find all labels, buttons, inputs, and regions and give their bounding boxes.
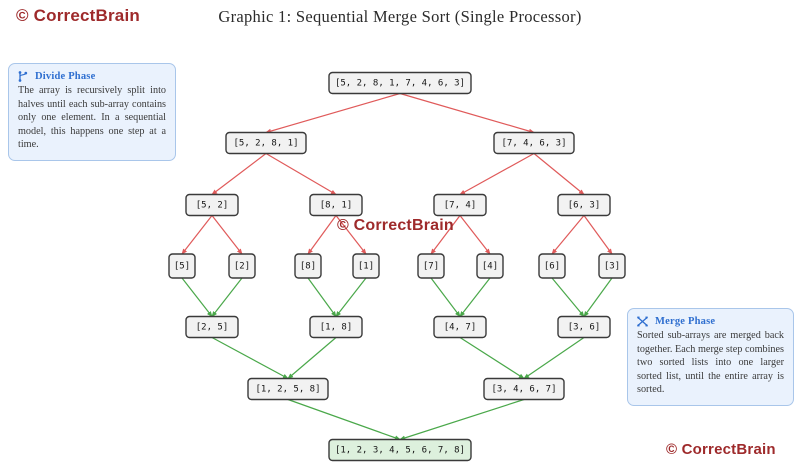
tree-node: [5, 2, 8, 1, 7, 4, 6, 3] [329,73,471,94]
tree-node-label: [7] [423,262,439,272]
tree-node-label: [4] [482,262,498,272]
tree-node: [3, 4, 6, 7] [484,379,564,400]
tree-node: [7] [418,254,444,278]
tree-node-label: [8, 1] [320,201,353,211]
tree-node-label: [3] [604,262,620,272]
watermark-center: © CorrectBrain [337,217,454,235]
tree-edge-merge [400,400,524,440]
tree-node: [1, 2, 3, 4, 5, 6, 7, 8] [329,440,471,461]
tree-node-label: [6] [544,262,560,272]
tree-node: [2, 5] [186,317,238,338]
tree-node: [4, 7] [434,317,486,338]
tree-node-label: [5, 2, 8, 1] [233,139,298,149]
merge-phase-callout: Merge Phase Sorted sub-arrays are merged… [627,308,794,406]
tree-node-label: [5] [174,262,190,272]
divide-callout-body: The array is recursively split into halv… [18,84,166,152]
tree-edge-merge [460,278,490,317]
tree-edge-merge [431,278,460,317]
tree-node: [7, 4, 6, 3] [494,133,574,154]
tree-node-label: [1, 8] [320,323,353,333]
tree-node-label: [3, 4, 6, 7] [491,385,556,395]
tree-edge-merge [182,278,212,317]
tree-node-label: [1, 2, 3, 4, 5, 6, 7, 8] [335,446,465,456]
tree-edge-merge [336,278,366,317]
tree-node: [6, 3] [558,195,610,216]
tree-edge-merge [584,278,612,317]
tree-node-label: [2, 5] [196,323,229,333]
tree-node: [7, 4] [434,195,486,216]
tree-node-label: [2] [234,262,250,272]
tree-edge-divide [552,216,584,255]
tree-edge-merge [552,278,584,317]
tree-edge-divide [460,154,534,195]
tree-edge-divide [266,154,336,195]
tree-edge-divide [460,216,490,255]
tree-node-label: [5, 2, 8, 1, 7, 4, 6, 3] [335,79,465,89]
tree-node: [5, 2] [186,195,238,216]
tree-node: [3] [599,254,625,278]
tree-edge-divide [182,216,212,255]
tree-edge-divide [584,216,612,255]
tree-node-label: [8] [300,262,316,272]
tree-node: [4] [477,254,503,278]
tree-node: [3, 6] [558,317,610,338]
tree-node-label: [7, 4, 6, 3] [501,139,566,149]
merge-callout-header: Merge Phase [637,316,784,327]
tree-node: [6] [539,254,565,278]
tree-node-label: [1, 2, 5, 8] [255,385,320,395]
tree-edge-divide [534,154,584,195]
tree-edge-merge [212,278,242,317]
tree-node-label: [7, 4] [444,201,477,211]
divide-callout-header: Divide Phase [18,71,166,82]
node-layer: [5, 2, 8, 1, 7, 4, 6, 3][5, 2, 8, 1][7, … [169,73,625,461]
tree-node-label: [4, 7] [444,323,477,333]
tree-node: [2] [229,254,255,278]
tree-edge-merge [288,400,400,440]
tree-node-label: [6, 3] [568,201,601,211]
tree-edge-divide [266,94,400,133]
watermark-bottom-right: © CorrectBrain [666,441,776,458]
tree-edge-merge [288,338,336,379]
tree-edge-merge [212,338,288,379]
divide-phase-callout: Divide Phase The array is recursively sp… [8,63,176,161]
tree-node: [1, 2, 5, 8] [248,379,328,400]
tree-node: [8] [295,254,321,278]
tree-edge-divide [212,154,266,195]
tree-edge-merge [524,338,584,379]
merge-callout-title: Merge Phase [655,316,715,327]
merge-shuffle-icon [637,316,648,327]
tree-edge-divide [400,94,534,133]
tree-edge-merge [308,278,336,317]
divide-callout-title: Divide Phase [35,71,95,82]
tree-node: [1, 8] [310,317,362,338]
tree-node: [1] [353,254,379,278]
tree-edge-divide [308,216,336,255]
tree-node-label: [1] [358,262,374,272]
tree-edge-divide [212,216,242,255]
tree-edge-merge [460,338,524,379]
merge-callout-body: Sorted sub-arrays are merged back togeth… [637,329,784,397]
git-branch-icon [18,71,28,82]
tree-node: [5, 2, 8, 1] [226,133,306,154]
tree-node: [5] [169,254,195,278]
tree-node-label: [3, 6] [568,323,601,333]
tree-node: [8, 1] [310,195,362,216]
tree-node-label: [5, 2] [196,201,229,211]
